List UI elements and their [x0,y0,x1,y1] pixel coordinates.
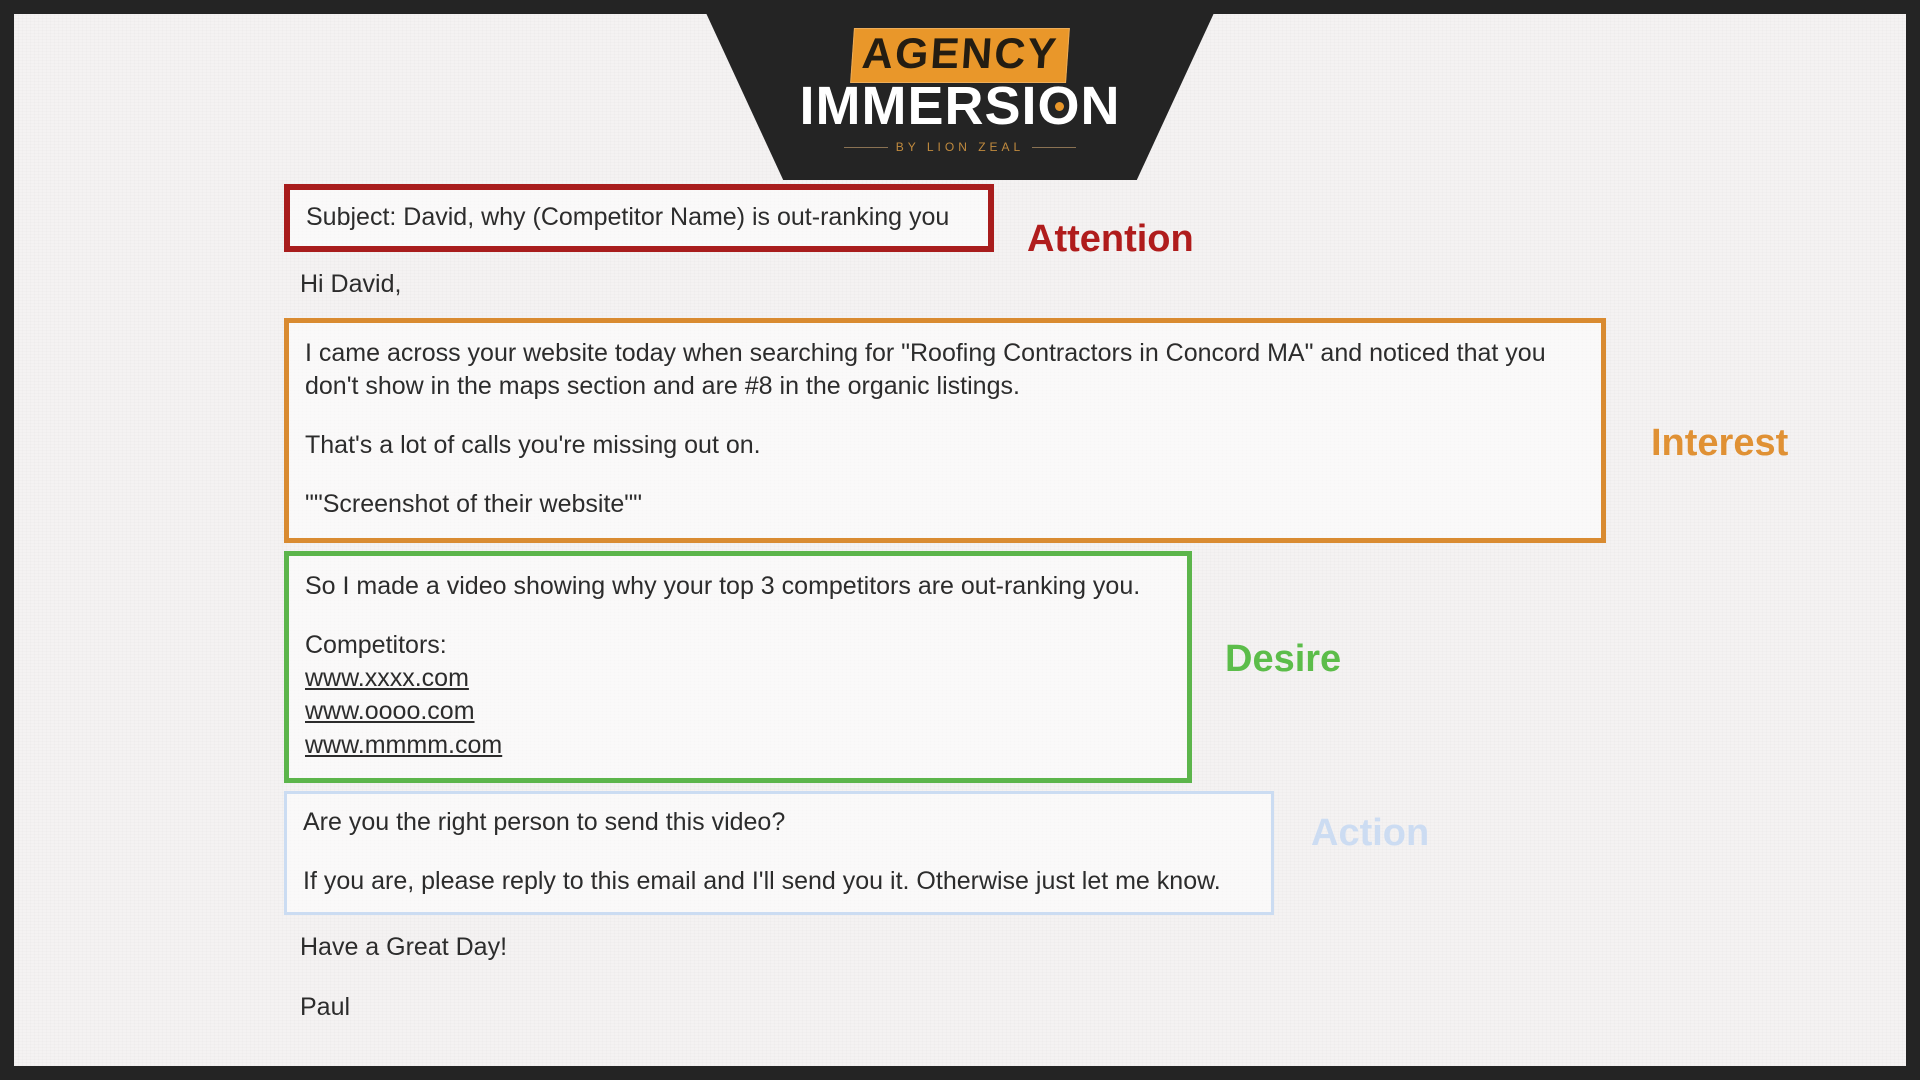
logo-target-o-icon: O [1038,79,1081,133]
aida-label-desire: Desire [1225,640,1341,678]
competitor-url-3[interactable]: www.mmmm.com [305,729,1171,762]
logo-byline-text: BY LION ZEAL [896,140,1024,154]
competitors-label: Competitors: [305,629,1171,662]
desire-paragraph-1: So I made a video showing why your top 3… [305,570,1171,603]
spacer [284,915,1844,931]
email-signature: Paul [284,991,1844,1024]
email-closing: Have a Great Day! [284,931,1844,964]
aida-label-interest: Interest [1651,424,1788,462]
spacer [284,543,1844,551]
spacer [284,783,1844,791]
spacer [284,302,1844,318]
logo-agency-wrap: AGENCY [852,28,1068,83]
action-section-box: Are you the right person to send this vi… [284,791,1274,916]
action-paragraph-1: Are you the right person to send this vi… [303,806,1255,839]
action-paragraph-2: If you are, please reply to this email a… [303,865,1255,898]
logo-immersion-post: N [1081,76,1121,136]
logo-byline: BY LION ZEAL [700,140,1220,154]
aida-label-attention: Attention [1027,220,1194,258]
logo-immersion-pre: IMMERSI [799,76,1037,136]
byline-rule-right [1032,147,1076,148]
interest-paragraph-1: I came across your website today when se… [305,337,1585,404]
spacer [305,603,1171,629]
spacer [284,965,1844,991]
competitor-url-2[interactable]: www.oooo.com [305,695,1171,728]
slide-content-area: AGENCY IMMERSION BY LION ZEAL Subject: D… [14,14,1906,1066]
competitor-url-1[interactable]: www.xxxx.com [305,662,1171,695]
spacer [303,839,1255,865]
interest-paragraph-2: That's a lot of calls you're missing out… [305,429,1585,462]
spacer [305,403,1585,429]
attention-section-box: Subject: David, why (Competitor Name) is… [284,184,994,252]
logo-agency-text: AGENCY [850,28,1070,83]
desire-section-box: So I made a video showing why your top 3… [284,551,1192,783]
logo-immersion-text: IMMERSION [700,79,1220,133]
email-body: Subject: David, why (Competitor Name) is… [284,184,1844,1024]
header-banner: AGENCY IMMERSION BY LION ZEAL [700,14,1220,180]
agency-immersion-logo: AGENCY IMMERSION BY LION ZEAL [700,28,1220,154]
byline-rule-left [844,147,888,148]
email-subject-line: Subject: David, why (Competitor Name) is… [306,201,972,234]
interest-paragraph-3: ""Screenshot of their website"" [305,488,1585,521]
spacer [305,462,1585,488]
aida-label-action: Action [1311,814,1429,852]
slide: AGENCY IMMERSION BY LION ZEAL Subject: D… [0,0,1920,1080]
interest-section-box: I came across your website today when se… [284,318,1606,543]
email-greeting: Hi David, [284,268,1844,301]
